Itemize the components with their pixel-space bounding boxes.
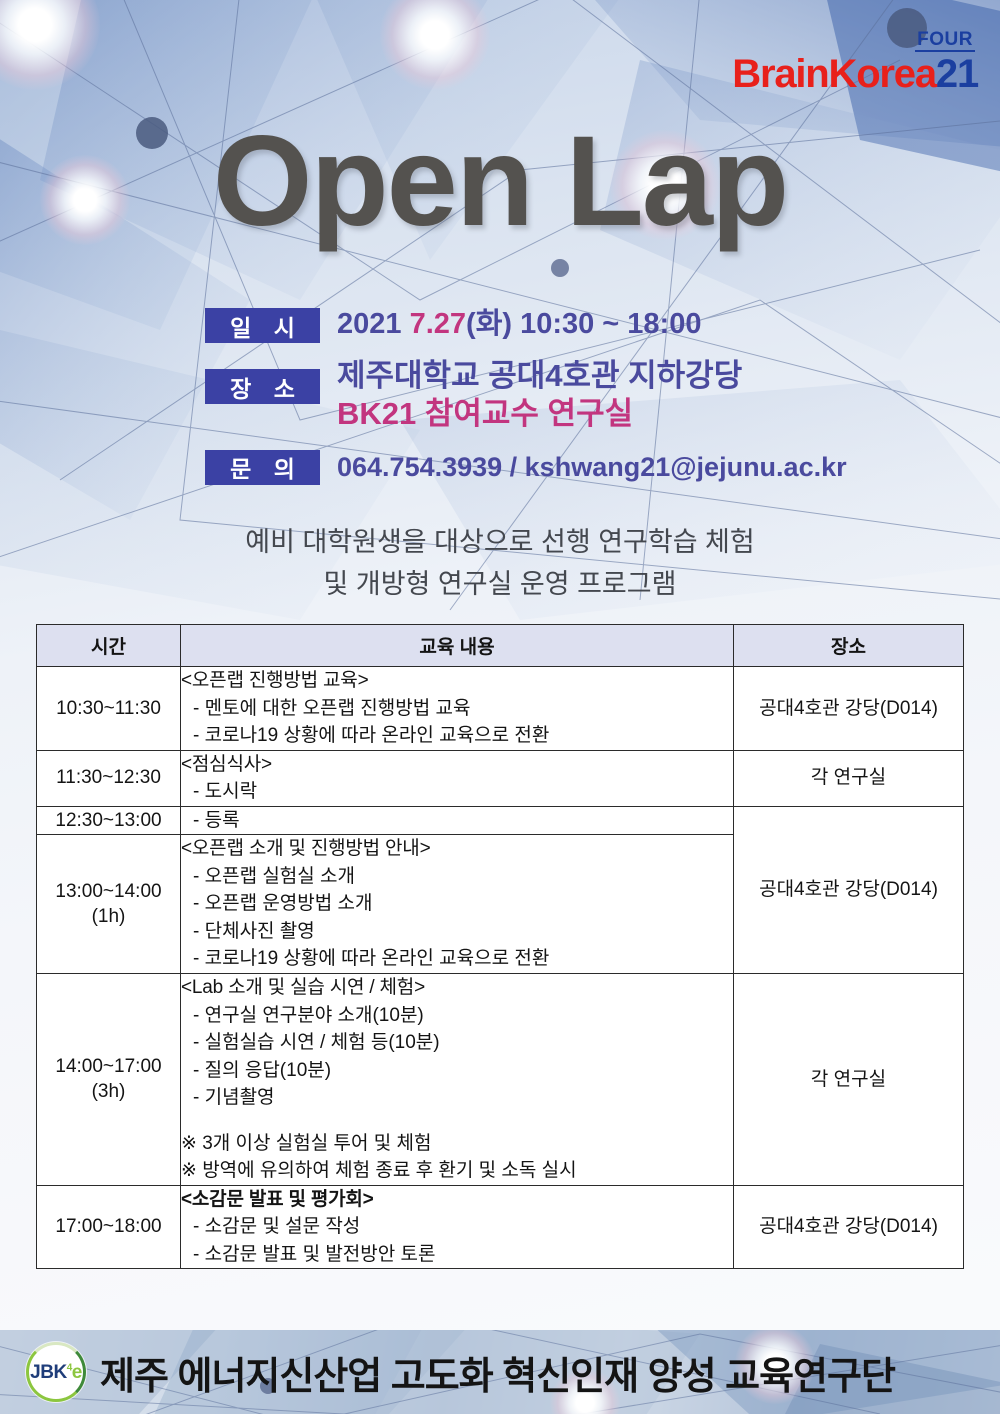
place-line-1: 제주대학교 공대4호관 지하강당 [337, 357, 742, 395]
subtitle-line-2: 및 개방형 연구실 운영 프로그램 [0, 564, 1000, 606]
date-label: 일 시 [205, 308, 320, 343]
content-line: <오픈랩 소개 및 진행방법 안내> [181, 835, 733, 863]
cell-place: 각 연구실 [734, 750, 964, 806]
logo-brainkorea-text: BrainKorea [732, 52, 936, 96]
cell-content: <오픈랩 소개 및 진행방법 안내>- 오픈랩 실험실 소개- 오픈랩 운영방법… [181, 835, 734, 974]
cell-time: 17:00~18:00 [37, 1185, 181, 1269]
content-line: ※ 방역에 유의하여 체험 종료 후 환기 및 소독 실시 [181, 1157, 733, 1185]
cell-content: <점심식사>- 도시락 [181, 750, 734, 806]
schedule-header-row: 시간 교육 내용 장소 [37, 625, 964, 667]
content-line: <소감문 발표 및 평가회> [181, 1186, 733, 1214]
jbk-logo-text: JBK4e [30, 1363, 82, 1382]
place-label: 장 소 [205, 369, 320, 404]
logo-four-text: FOUR [915, 30, 975, 52]
date-highlight: 7.27 [410, 308, 466, 340]
content-line: - 코로나19 상황에 따라 온라인 교육으로 전환 [181, 945, 733, 973]
poster: FOUR BrainKorea21 Open Lap 일 시 2021 7.27… [0, 0, 1000, 1414]
date-prefix: 2021 [337, 308, 410, 340]
info-block: 일 시 2021 7.27(화) 10:30 ~ 18:00 장 소 제주대학교… [205, 308, 905, 485]
content-line: - 기념촬영 [181, 1084, 733, 1112]
content-line: - 코로나19 상황에 따라 온라인 교육으로 전환 [181, 722, 733, 750]
header-place: 장소 [734, 625, 964, 667]
header-time: 시간 [37, 625, 181, 667]
content-line: - 오픈랩 운영방법 소개 [181, 890, 733, 918]
cell-time: 12:30~13:00 [37, 806, 181, 835]
logo-21-text: 21 [936, 52, 978, 96]
cell-content: <소감문 발표 및 평가회>- 소감문 및 설문 작성- 소감문 발표 및 발전… [181, 1185, 734, 1269]
glow-spot [380, 0, 490, 90]
cell-place: 공대4호관 강당(D014) [734, 1185, 964, 1269]
cell-time: 14:00~17:00(3h) [37, 974, 181, 1186]
table-row: 14:00~17:00(3h)<Lab 소개 및 실습 시연 / 체험>- 연구… [37, 974, 964, 1186]
jbk-text-main: JBK [30, 1362, 67, 1383]
content-line: - 소감문 및 설문 작성 [181, 1213, 733, 1241]
time-line: 17:00~18:00 [37, 1214, 180, 1240]
footer-title: 제주 에너지신산업 고도화 혁신인재 양성 교육연구단 [100, 1345, 895, 1400]
cell-place: 각 연구실 [734, 974, 964, 1186]
table-row: 11:30~12:30<점심식사>- 도시락각 연구실 [37, 750, 964, 806]
node-dot [551, 259, 569, 277]
table-row: 17:00~18:00<소감문 발표 및 평가회>- 소감문 및 설문 작성- … [37, 1185, 964, 1269]
content-line: - 연구실 연구분야 소개(10분) [181, 1002, 733, 1030]
date-value: 2021 7.27(화) 10:30 ~ 18:00 [320, 308, 701, 342]
time-line: (1h) [37, 904, 180, 930]
info-row-contact: 문 의 064.754.3939 / kshwang21@jejunu.ac.k… [205, 450, 905, 485]
contact-label: 문 의 [205, 450, 320, 485]
time-line: 13:00~14:00 [37, 879, 180, 905]
table-row: 10:30~11:30<오픈랩 진행방법 교육>- 멘토에 대한 오픈랩 진행방… [37, 667, 964, 751]
subtitle-line-1: 예비 대학원생을 대상으로 선행 연구학습 체험 [0, 522, 1000, 564]
content-line: - 오픈랩 실험실 소개 [181, 863, 733, 891]
cell-content: - 등록 [181, 806, 734, 835]
time-line: 12:30~13:00 [37, 808, 180, 834]
content-spacer [181, 1112, 733, 1130]
content-line: - 소감문 발표 및 발전방안 토론 [181, 1241, 733, 1269]
brainkorea21-logo: FOUR BrainKorea21 [732, 30, 978, 94]
time-line: 11:30~12:30 [37, 765, 180, 791]
header-content: 교육 내용 [181, 625, 734, 667]
cell-place: 공대4호관 강당(D014) [734, 806, 964, 973]
cell-place: 공대4호관 강당(D014) [734, 667, 964, 751]
time-line: 10:30~11:30 [37, 696, 180, 722]
table-row: 12:30~13:00- 등록공대4호관 강당(D014) [37, 806, 964, 835]
glow-spot [0, 0, 100, 90]
cell-time: 11:30~12:30 [37, 750, 181, 806]
place-value: 제주대학교 공대4호관 지하강당 BK21 참여교수 연구실 [320, 357, 742, 434]
cell-content: <오픈랩 진행방법 교육>- 멘토에 대한 오픈랩 진행방법 교육- 코로나19… [181, 667, 734, 751]
content-line: ※ 3개 이상 실험실 투어 및 체험 [181, 1130, 733, 1158]
content-line: - 질의 응답(10분) [181, 1057, 733, 1085]
page-title: Open Lap [0, 118, 1000, 246]
jbk-logo: JBK4e [26, 1342, 86, 1402]
content-line: - 실험실습 시연 / 체험 등(10분) [181, 1029, 733, 1057]
jbk-text-e: e [72, 1362, 82, 1383]
content-line: - 멘토에 대한 오픈랩 진행방법 교육 [181, 695, 733, 723]
cell-time: 10:30~11:30 [37, 667, 181, 751]
schedule-body: 10:30~11:30<오픈랩 진행방법 교육>- 멘토에 대한 오픈랩 진행방… [37, 667, 964, 1269]
content-line: - 도시락 [181, 778, 733, 806]
cell-time: 13:00~14:00(1h) [37, 835, 181, 974]
info-row-date: 일 시 2021 7.27(화) 10:30 ~ 18:00 [205, 308, 905, 343]
subtitle: 예비 대학원생을 대상으로 선행 연구학습 체험 및 개방형 연구실 운영 프로… [0, 522, 1000, 606]
content-line: <Lab 소개 및 실습 시연 / 체험> [181, 974, 733, 1002]
date-suffix: (화) 10:30 ~ 18:00 [466, 308, 701, 340]
cell-content: <Lab 소개 및 실습 시연 / 체험>- 연구실 연구분야 소개(10분)-… [181, 974, 734, 1186]
footer: JBK4e 제주 에너지신산업 고도화 혁신인재 양성 교육연구단 [0, 1330, 1000, 1414]
content-line: <점심식사> [181, 751, 733, 779]
contact-value[interactable]: 064.754.3939 / kshwang21@jejunu.ac.kr [320, 450, 847, 484]
info-row-place: 장 소 제주대학교 공대4호관 지하강당 BK21 참여교수 연구실 [205, 357, 905, 434]
content-line: <오픈랩 진행방법 교육> [181, 667, 733, 695]
time-line: (3h) [37, 1079, 180, 1105]
content-line: - 단체사진 촬영 [181, 918, 733, 946]
content-line: - 등록 [181, 807, 733, 835]
schedule-table: 시간 교육 내용 장소 10:30~11:30<오픈랩 진행방법 교육>- 멘토… [36, 624, 964, 1269]
time-line: 14:00~17:00 [37, 1054, 180, 1080]
place-line-2: BK21 참여교수 연구실 [337, 395, 742, 433]
